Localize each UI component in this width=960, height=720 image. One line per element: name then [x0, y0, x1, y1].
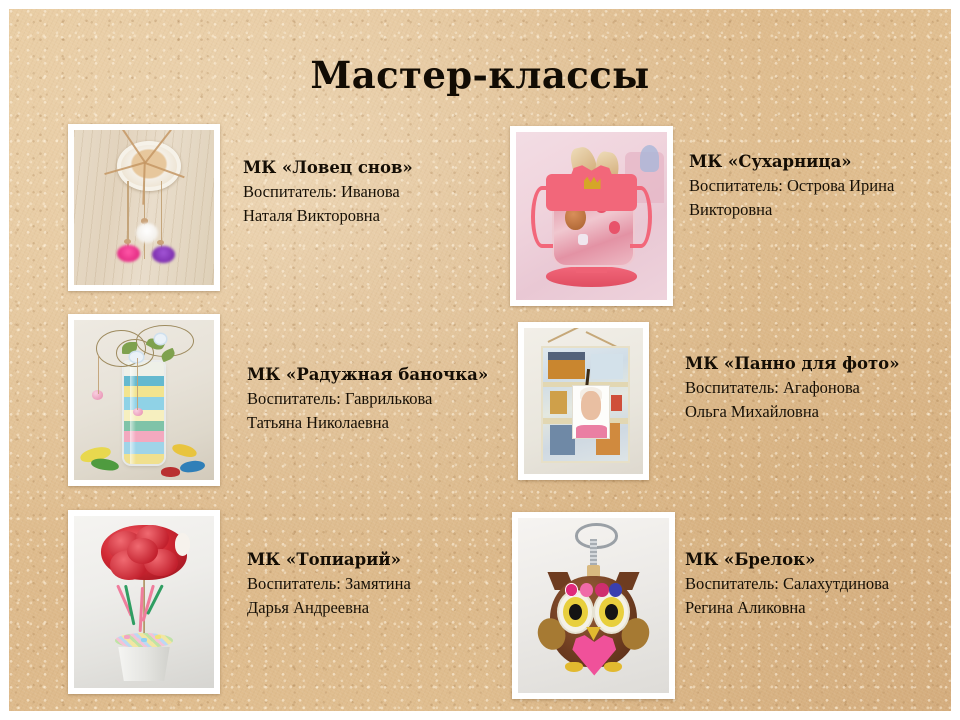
entry-teacher-line2: Наталя Викторовна	[243, 205, 493, 227]
rainbow-jar-artwork	[74, 320, 214, 480]
slide: Мастер-классы	[9, 9, 951, 711]
caption-suharnica: МК «Сухарница» Воспитатель: Острова Ирин…	[689, 151, 949, 221]
caption-lovec-snov: МК «Ловец снов» Воспитатель: Иванова Нат…	[243, 157, 493, 227]
caption-panno-dlya-foto: МК «Панно для фото» Воспитатель: Агафоно…	[685, 353, 950, 423]
entry-teacher-line1: Воспитатель: Замятина	[247, 573, 497, 595]
entry-teacher-line2: Дарья Андреевна	[247, 597, 497, 619]
owl-keychain-photo	[512, 512, 675, 699]
entry-teacher-line1: Воспитатель: Салахутдинова	[685, 573, 951, 595]
entry-title: МК «Топиарий»	[247, 549, 497, 571]
entry-title: МК «Панно для фото»	[685, 353, 950, 375]
entry-teacher-line1: Воспитатель: Агафонова	[685, 377, 950, 399]
bread-basket-artwork	[516, 132, 667, 300]
entry-title: МК «Сухарница»	[689, 151, 949, 173]
dreamcatcher-photo	[68, 124, 220, 291]
entry-teacher-line1: Воспитатель: Гаврилькова	[247, 388, 507, 410]
entry-title: МК «Радужная баночка»	[247, 364, 507, 386]
dreamcatcher-artwork	[74, 130, 214, 285]
entry-title: МК «Ловец снов»	[243, 157, 493, 179]
entry-teacher-line1: Воспитатель: Иванова	[243, 181, 493, 203]
caption-raduzhnaya-banochka: МК «Радужная баночка» Воспитатель: Гаври…	[247, 364, 507, 434]
photo-panel-photo	[518, 322, 649, 480]
topiary-artwork	[74, 516, 214, 688]
photo-panel-artwork	[524, 328, 643, 474]
topiary-photo	[68, 510, 220, 694]
entry-teacher-line2: Татьяна Николаевна	[247, 412, 507, 434]
entry-teacher-line1: Воспитатель: Острова Ирина	[689, 175, 949, 197]
rainbow-jar-photo	[68, 314, 220, 486]
entry-title: МК «Брелок»	[685, 549, 951, 571]
entry-teacher-line2: Регина Аликовна	[685, 597, 951, 619]
entry-teacher-line2: Викторовна	[689, 199, 949, 221]
bread-basket-photo	[510, 126, 673, 306]
page-title: Мастер-классы	[9, 53, 951, 97]
owl-keychain-artwork	[518, 518, 669, 693]
entry-teacher-line2: Ольга Михайловна	[685, 401, 950, 423]
caption-brelok: МК «Брелок» Воспитатель: Салахутдинова Р…	[685, 549, 951, 619]
caption-topiariy: МК «Топиарий» Воспитатель: Замятина Дарь…	[247, 549, 497, 619]
